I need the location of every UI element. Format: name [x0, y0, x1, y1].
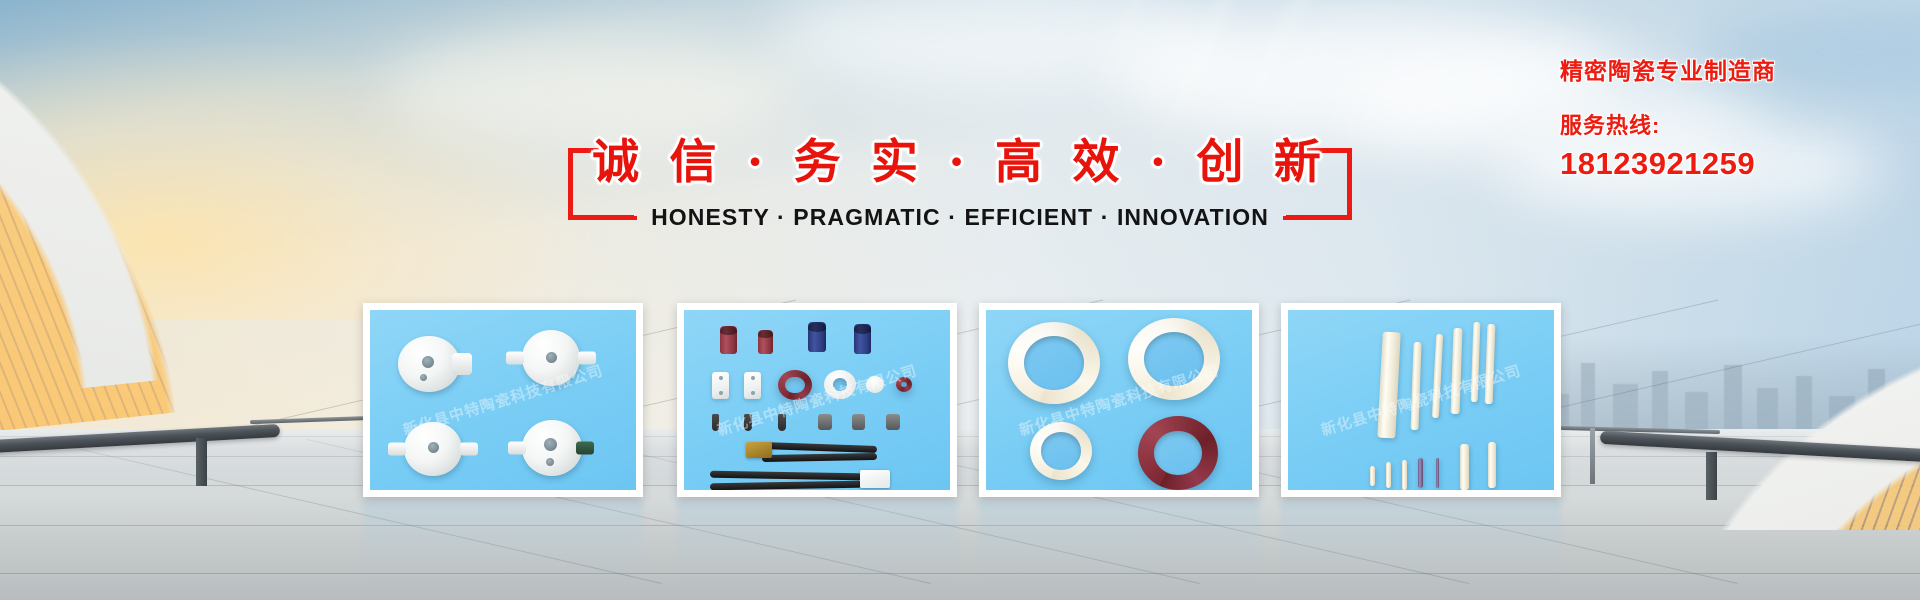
slogan-chinese: 诚 信 · 务 实 · 高 效 · 创 新 — [560, 130, 1360, 187]
railing-post — [1706, 452, 1717, 500]
glass-post — [1590, 428, 1595, 484]
slogan-block: 诚 信 · 务 实 · 高 效 · 创 新 HONESTY · PRAGMATI… — [560, 130, 1360, 231]
sun-ray — [1086, 0, 1146, 125]
hotline-number: 18123921259 — [1560, 146, 1900, 182]
slogan-english: HONESTY · PRAGMATIC · EFFICIENT · INNOVA… — [651, 204, 1269, 231]
railing-post — [196, 438, 207, 486]
product-panel-ceramic-lamp-holders[interactable]: 新化县中特陶瓷科技有限公司 — [363, 303, 643, 497]
louvered-canopy-left — [0, 0, 360, 430]
product-panel-ceramic-rods[interactable]: 新化县中特陶瓷科技有限公司 — [1281, 303, 1561, 497]
dash-left-icon — [583, 216, 637, 220]
slogan-english-row: HONESTY · PRAGMATIC · EFFICIENT · INNOVA… — [560, 204, 1360, 231]
panel-watermark: 新化县中特陶瓷科技有限公司 — [1318, 360, 1523, 441]
contact-block: 精密陶瓷专业制造商 服务热线: 18123921259 — [1560, 52, 1900, 182]
product-panel-ceramic-rings[interactable]: 新化县中特陶瓷科技有限公司 — [979, 303, 1259, 497]
hotline-label: 服务热线: — [1560, 108, 1900, 140]
product-panel-ceramic-tubes[interactable]: 新化县中特陶瓷科技有限公司 — [677, 303, 957, 497]
hero-banner: 诚 信 · 务 实 · 高 效 · 创 新 HONESTY · PRAGMATI… — [0, 0, 1920, 600]
sun-ray — [1228, 0, 1311, 139]
dash-right-icon — [1283, 216, 1337, 220]
company-tagline: 精密陶瓷专业制造商 — [1560, 52, 1900, 86]
